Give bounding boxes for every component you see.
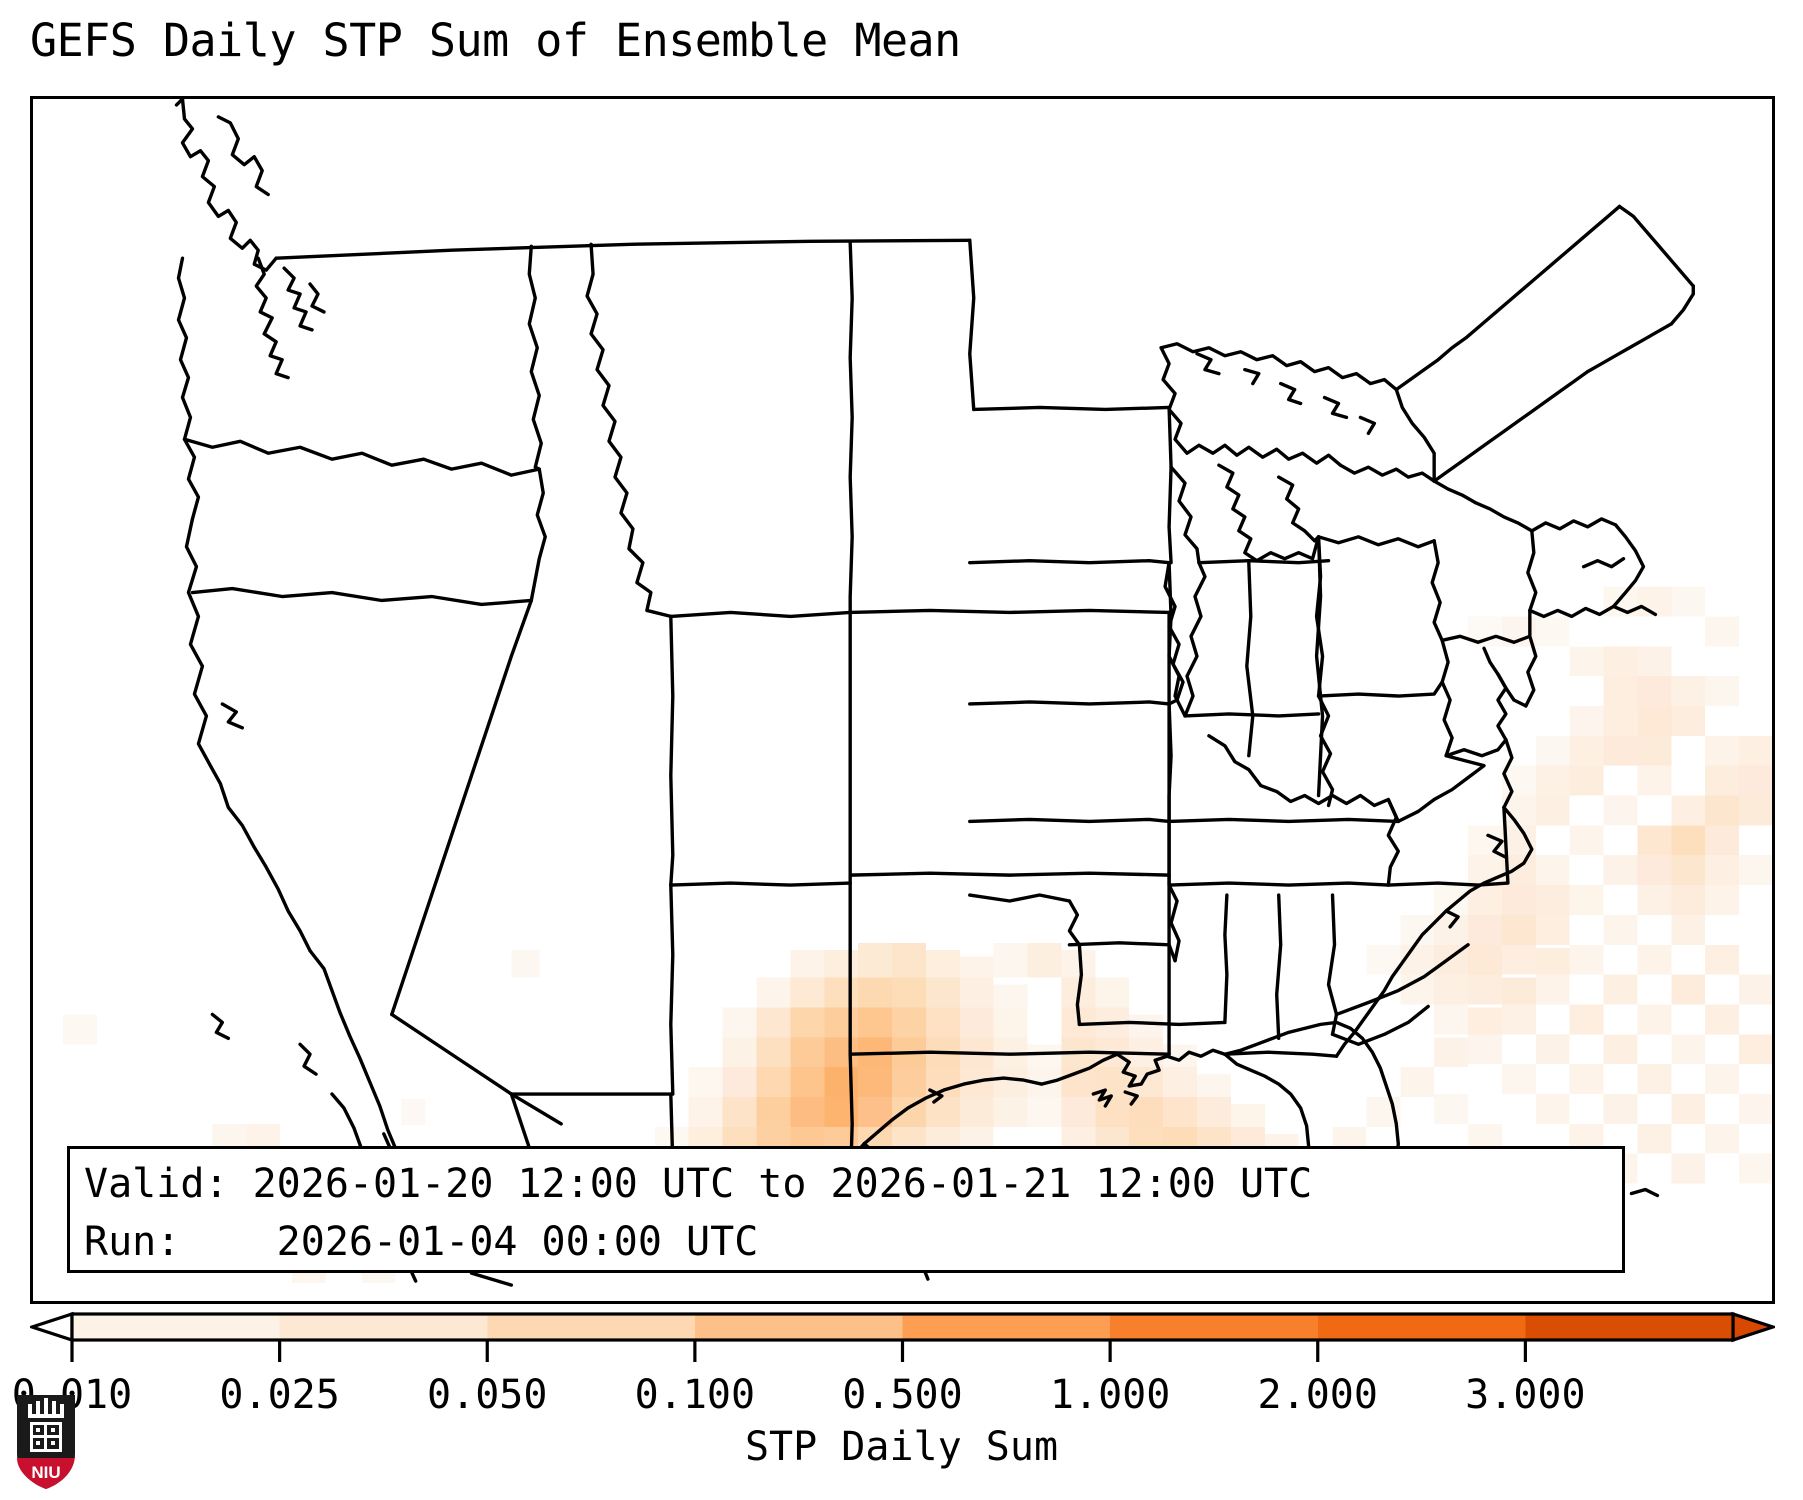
- colorbar-segment: [695, 1314, 903, 1340]
- colorbar-segment: [72, 1314, 280, 1340]
- colorbar-over-arrow: [1733, 1314, 1773, 1340]
- colorbar: [30, 1306, 1775, 1366]
- forecast-info-box: Valid: 2026-01-20 12:00 UTC to 2026-01-2…: [67, 1146, 1625, 1273]
- colorbar-segment: [1318, 1314, 1526, 1340]
- colorbar-tick-label: 0.100: [635, 1372, 755, 1418]
- colorbar-tick-label: 1.000: [1050, 1372, 1170, 1418]
- colorbar-segment: [487, 1314, 695, 1340]
- run-time-line: Run: 2026-01-04 00:00 UTC: [84, 1213, 1608, 1271]
- map-canvas: [33, 99, 1772, 1301]
- niu-logo-text: NIU: [31, 1463, 60, 1482]
- valid-time-line: Valid: 2026-01-20 12:00 UTC to 2026-01-2…: [84, 1155, 1608, 1213]
- page-title: GEFS Daily STP Sum of Ensemble Mean: [30, 14, 1530, 67]
- niu-logo: NIU: [14, 1392, 78, 1492]
- colorbar-tick-labels: 0.0100.0250.0500.1000.5001.0002.0003.000: [30, 1372, 1775, 1422]
- colorbar-under-arrow: [32, 1314, 72, 1340]
- colorbar-axis-label: STP Daily Sum: [0, 1424, 1803, 1470]
- colorbar-tick-label: 0.500: [842, 1372, 962, 1418]
- map-panel: [30, 96, 1775, 1304]
- colorbar-segment: [1525, 1314, 1733, 1340]
- colorbar-tick-label: 0.025: [219, 1372, 339, 1418]
- colorbar-segment: [1110, 1314, 1318, 1340]
- colorbar-tick-label: 0.050: [427, 1372, 547, 1418]
- colorbar-tick-label: 2.000: [1258, 1372, 1378, 1418]
- colorbar-svg: [30, 1306, 1775, 1366]
- colorbar-segment: [280, 1314, 488, 1340]
- colorbar-tick-label: 3.000: [1465, 1372, 1585, 1418]
- colorbar-segment: [903, 1314, 1111, 1340]
